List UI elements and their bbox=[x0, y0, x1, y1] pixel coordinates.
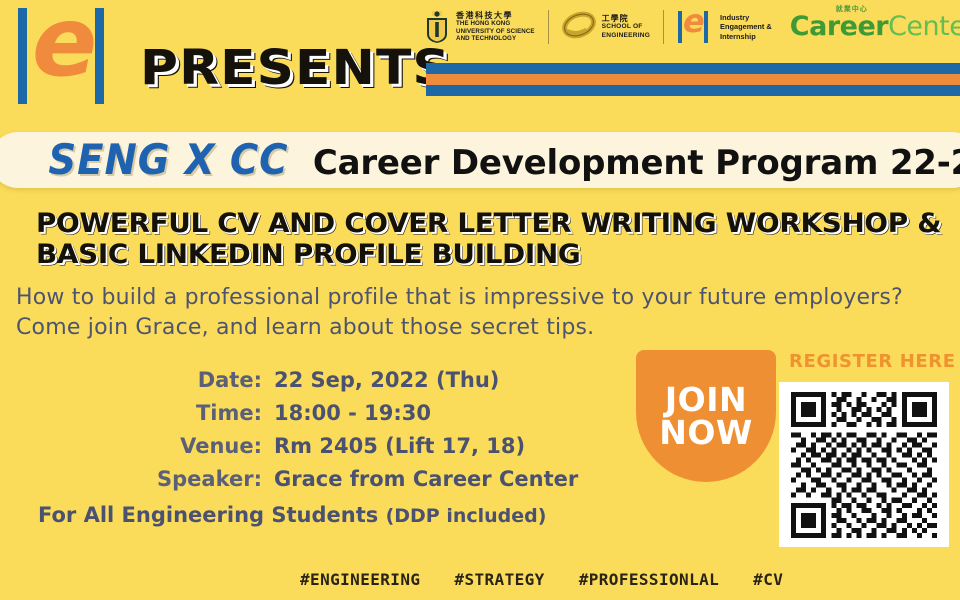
career-center-light: Center bbox=[888, 11, 960, 42]
hashtag-professional: #PROFESSIONLAL bbox=[579, 570, 719, 590]
detail-label-speaker: Speaker: bbox=[140, 463, 274, 496]
e-logo-bar-left bbox=[18, 8, 27, 104]
iei-e-mark: e bbox=[677, 11, 711, 43]
logo-divider-2 bbox=[663, 10, 664, 44]
hkust-shield-icon bbox=[424, 10, 450, 44]
event-details: Date: 22 Sep, 2022 (Thu) Time: 18:00 - 1… bbox=[140, 364, 578, 496]
hashtag-cv: #CV bbox=[753, 570, 783, 590]
hashtag-row: #ENGINEERING #STRATEGY #PROFESSIONLAL #C… bbox=[300, 570, 940, 590]
event-description-line-1: How to build a professional profile that… bbox=[16, 283, 946, 313]
bar-blue-top bbox=[426, 63, 960, 74]
title-banner-content: SENG X CC Career Development Program 22-… bbox=[0, 139, 960, 182]
career-center-bold: Career bbox=[790, 11, 888, 42]
hashtag-engineering: #ENGINEERING bbox=[300, 570, 420, 590]
soe-swoosh-icon bbox=[562, 10, 596, 45]
audience-note: (DDP included) bbox=[386, 505, 547, 527]
event-headline: POWERFUL CV AND COVER LETTER WRITING WOR… bbox=[36, 208, 960, 270]
event-headline-line-2: BASIC LINKEDIN PROFILE BUILDING bbox=[36, 239, 960, 270]
header-logo-row: 香港科技大學 THE HONG KONG UNIVERSITY OF SCIEN… bbox=[424, 4, 960, 50]
poster-canvas: e PRESENTS 香港科技大學 THE HONG KONG UNI bbox=[0, 0, 960, 600]
title-banner: SENG X CC Career Development Program 22-… bbox=[0, 132, 960, 188]
presents-heading: PRESENTS bbox=[140, 44, 451, 92]
detail-label-time: Time: bbox=[140, 397, 274, 430]
join-now-line-2: NOW bbox=[659, 416, 753, 449]
iei-line-2: Engagement & bbox=[720, 22, 772, 31]
event-description: How to build a professional profile that… bbox=[16, 283, 946, 343]
tricolor-bars bbox=[426, 63, 960, 96]
event-headline-line-1: POWERFUL CV AND COVER LETTER WRITING WOR… bbox=[36, 208, 960, 239]
hkust-line-2: UNIVERSITY OF SCIENCE bbox=[456, 28, 535, 35]
register-here-label: REGISTER HERE : bbox=[789, 352, 960, 372]
event-description-line-2: Come join Grace, and learn about those s… bbox=[16, 313, 946, 343]
detail-label-date: Date: bbox=[140, 364, 274, 397]
iei-line-3: Internship bbox=[720, 32, 756, 41]
iei-line-1: Industry bbox=[720, 13, 749, 22]
hkust-line-3: AND TECHNOLOGY bbox=[456, 35, 516, 42]
detail-row-speaker: Speaker: Grace from Career Center bbox=[140, 463, 578, 496]
iei-logo-text: Industry Engagement & Internship bbox=[720, 13, 772, 42]
registration-qr-code[interactable] bbox=[779, 382, 949, 547]
soe-logo-text: 工學院 SCHOOL OF ENGINEERING bbox=[602, 14, 650, 40]
e-logo-glyph: e bbox=[32, 0, 88, 90]
industry-engagement-logo: e Industry Engagement & Internship bbox=[677, 11, 772, 43]
program-title: Career Development Program 22-23 bbox=[313, 144, 960, 182]
detail-value-date: 22 Sep, 2022 (Thu) bbox=[274, 364, 499, 397]
soe-line-1: SCHOOL OF bbox=[602, 23, 643, 30]
detail-value-time: 18:00 - 19:30 bbox=[274, 397, 431, 430]
seng-e-logo: e bbox=[14, 8, 110, 104]
audience-line: For All Engineering Students (DDP includ… bbox=[38, 502, 546, 529]
logo-divider bbox=[548, 10, 549, 44]
audience-main: For All Engineering Students bbox=[38, 503, 378, 527]
career-center-chinese-name: 就業中心 bbox=[836, 4, 868, 14]
join-now-badge[interactable]: JOIN NOW bbox=[636, 350, 776, 482]
soe-line-2: ENGINEERING bbox=[602, 32, 650, 39]
career-center-wordmark: CareerCenter bbox=[790, 11, 960, 42]
bar-orange-middle bbox=[426, 74, 960, 85]
career-center-logo: 就業中心 CareerCenter bbox=[790, 12, 960, 42]
iei-e-glyph: e bbox=[683, 5, 703, 37]
detail-row-date: Date: 22 Sep, 2022 (Thu) bbox=[140, 364, 578, 397]
detail-row-time: Time: 18:00 - 19:30 bbox=[140, 397, 578, 430]
hkust-line-1: THE HONG KONG bbox=[456, 20, 510, 27]
join-now-line-1: JOIN bbox=[665, 383, 747, 416]
hkust-logo-text: 香港科技大學 THE HONG KONG UNIVERSITY OF SCIEN… bbox=[456, 11, 535, 43]
detail-label-venue: Venue: bbox=[140, 430, 274, 463]
hkust-logo: 香港科技大學 THE HONG KONG UNIVERSITY OF SCIEN… bbox=[424, 10, 535, 44]
iei-bar-left bbox=[678, 11, 682, 43]
detail-value-venue: Rm 2405 (Lift 17, 18) bbox=[274, 430, 525, 463]
detail-row-venue: Venue: Rm 2405 (Lift 17, 18) bbox=[140, 430, 578, 463]
detail-value-speaker: Grace from Career Center bbox=[274, 463, 578, 496]
bar-blue-bottom bbox=[426, 85, 960, 96]
hkust-chinese-name: 香港科技大學 bbox=[456, 11, 535, 20]
hashtag-strategy: #STRATEGY bbox=[454, 570, 544, 590]
soe-chinese-name: 工學院 bbox=[602, 14, 650, 24]
seng-x-cc-brand: SENG X CC bbox=[48, 139, 288, 181]
school-of-engineering-logo: 工學院 SCHOOL OF ENGINEERING bbox=[562, 10, 650, 45]
